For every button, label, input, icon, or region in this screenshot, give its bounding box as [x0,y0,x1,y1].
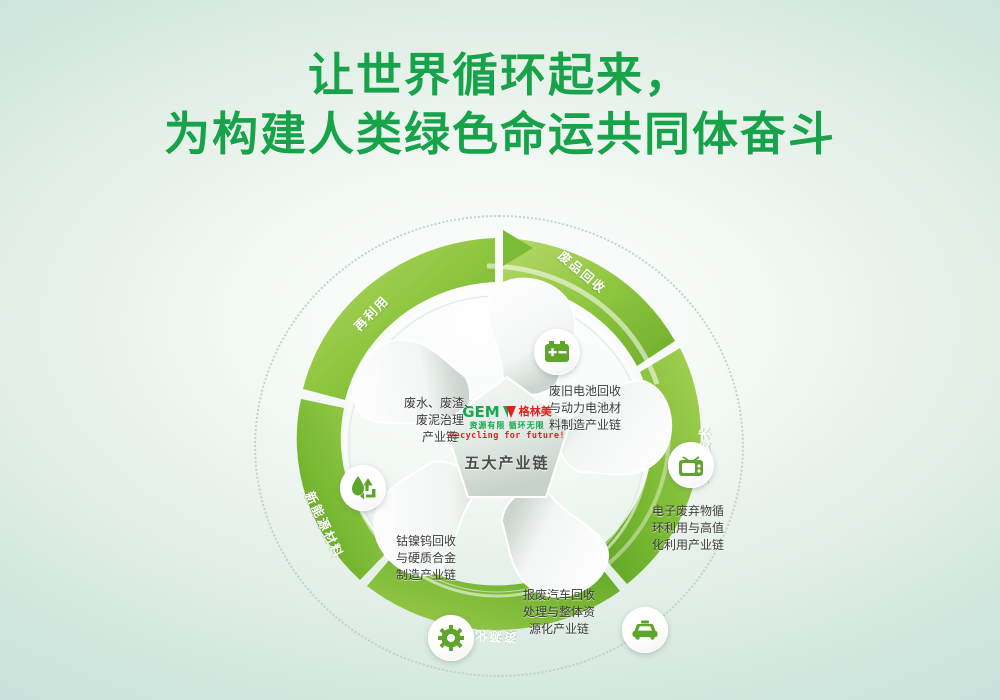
industry-chain-petals: GEM 格林美 资源有限 循环无限 Recycling for future! … [314,267,684,627]
page-title-line-1: 让世界循环起来， [0,46,1000,105]
battery-icon-bubble [534,329,580,375]
page-title: 让世界循环起来， 为构建人类绿色命运共同体奋斗 [0,46,1000,164]
recycle-drop-icon [349,475,377,501]
chain-label-battery: 废旧电池回收 与动力电池材 料制造产业链 [536,383,634,434]
gem-triangle-mark-icon [503,406,514,418]
gear-icon-bubble [428,615,474,661]
chain-label-ewaste: 电子废弃物循 环利用与高值 化利用产业链 [644,503,732,554]
infographic-canvas: 让世界循环起来， 为构建人类绿色命运共同体奋斗 [0,0,1000,700]
chain-label-water: 废水、废渣、 废泥治理 产业链 [394,395,486,446]
car-icon [631,620,659,640]
car-icon-bubble [622,607,668,653]
gear-icon [438,625,464,651]
tv-icon-bubble [668,442,714,488]
chain-label-cobalt: 钴镍钨回收 与硬质合金 制造产业链 [380,533,472,584]
tv-icon [678,453,704,477]
center-label: 五大产业链 [446,452,568,473]
recycle-drop-icon-bubble [340,465,386,511]
chain-label-auto: 报废汽车回收 处理与整体资 源化产业链 [510,587,608,638]
page-title-line-2: 为构建人类绿色命运共同体奋斗 [0,105,1000,164]
battery-icon [544,341,570,363]
circular-economy-wheel: 再利用 废品回收 绿色技术 资源化再造 新能源材料 [254,215,746,685]
